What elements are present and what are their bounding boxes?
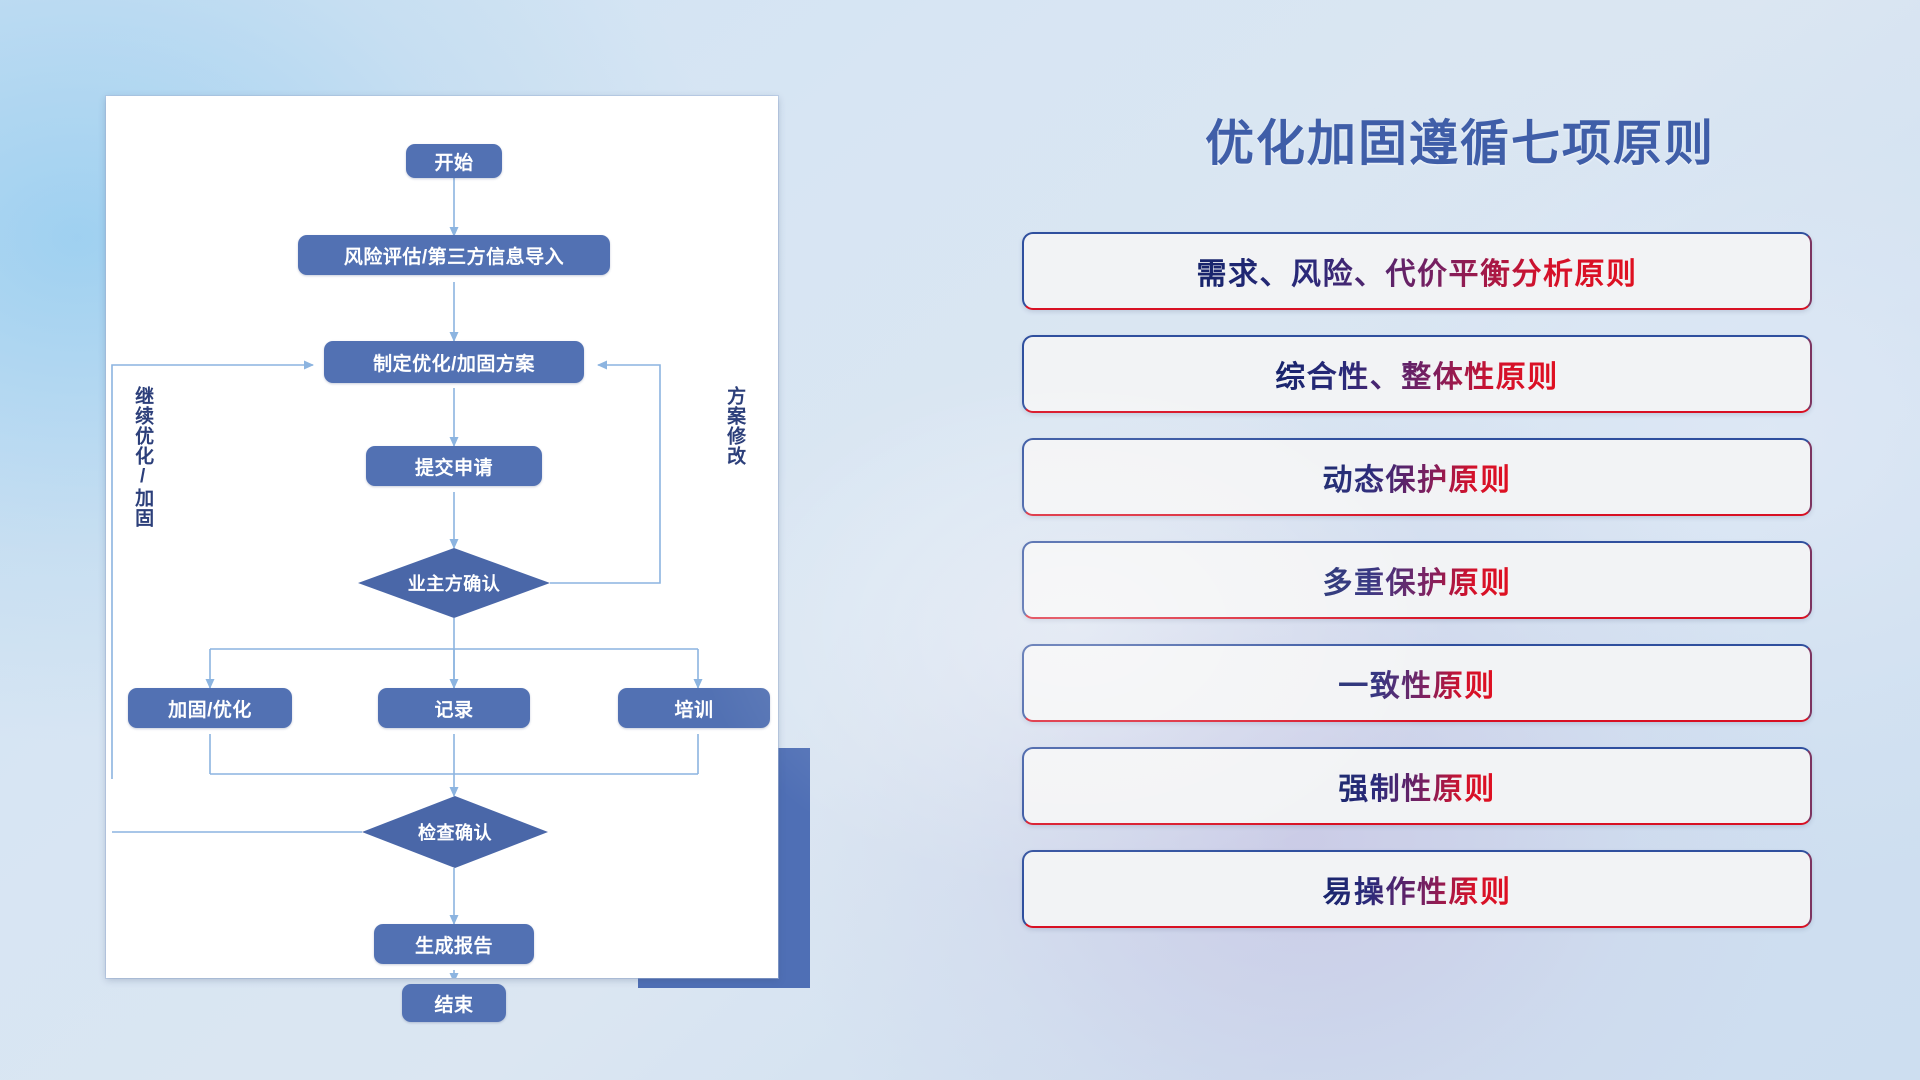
principle-card-7-label: 易操作性原则: [1323, 867, 1512, 911]
flowchart-card: 开始 风险评估/第三方信息导入 制定优化/加固方案 提交申请 业主方确认 加固/…: [106, 96, 778, 978]
flow-node-end-label: 结束: [434, 990, 473, 1017]
flow-node-risk-assessment[interactable]: 风险评估/第三方信息导入: [298, 235, 610, 275]
principle-card-5[interactable]: 一致性原则: [1022, 644, 1812, 722]
principle-card-3-label: 动态保护原则: [1323, 455, 1512, 499]
flow-decision-check-confirm-label: 检查确认: [418, 819, 492, 845]
principle-card-4[interactable]: 多重保护原则: [1022, 541, 1812, 619]
flow-node-record[interactable]: 记录: [378, 688, 530, 728]
flow-node-report[interactable]: 生成报告: [374, 924, 534, 964]
principle-card-4-label: 多重保护原则: [1323, 558, 1512, 602]
principle-card-5-label: 一致性原则: [1338, 661, 1496, 705]
flow-node-reinforce-label: 加固/优化: [168, 695, 252, 722]
flow-node-report-label: 生成报告: [415, 931, 493, 958]
flow-node-plan-label: 制定优化/加固方案: [373, 349, 535, 376]
principles-panel: 优化加固遵循七项原则 需求、风险、代价平衡分析原则 综合性、整体性原则 动态保护…: [1000, 0, 1920, 1080]
page-title: 优化加固遵循七项原则: [1000, 104, 1920, 175]
flow-node-plan[interactable]: 制定优化/加固方案: [324, 341, 584, 383]
flow-node-reinforce[interactable]: 加固/优化: [128, 688, 292, 728]
principle-card-7[interactable]: 易操作性原则: [1022, 850, 1812, 928]
flow-node-training[interactable]: 培训: [618, 688, 770, 728]
principle-card-1-label: 需求、风险、代价平衡分析原则: [1197, 249, 1638, 293]
flow-node-start[interactable]: 开始: [406, 144, 502, 178]
flow-node-record-label: 记录: [434, 695, 473, 722]
flow-node-submit[interactable]: 提交申请: [366, 446, 542, 486]
flow-node-submit-label: 提交申请: [415, 453, 493, 480]
principle-card-2[interactable]: 综合性、整体性原则: [1022, 335, 1812, 413]
flow-edge-label-left-loop: 继续优化/加固: [132, 386, 152, 528]
flow-node-training-label: 培训: [674, 695, 713, 722]
principles-list: 需求、风险、代价平衡分析原则 综合性、整体性原则 动态保护原则 多重保护原则 一…: [1022, 232, 1812, 953]
slide-root: 开始 风险评估/第三方信息导入 制定优化/加固方案 提交申请 业主方确认 加固/…: [0, 0, 1920, 1080]
flow-edge-label-right-loop: 方案修改: [724, 386, 744, 466]
flow-decision-owner-confirm-label: 业主方确认: [408, 570, 501, 596]
flow-node-end[interactable]: 结束: [402, 984, 506, 1022]
principle-card-1[interactable]: 需求、风险、代价平衡分析原则: [1022, 232, 1812, 310]
flow-node-risk-assessment-label: 风险评估/第三方信息导入: [344, 242, 564, 269]
flow-decision-owner-confirm[interactable]: 业主方确认: [358, 548, 550, 618]
principle-card-6[interactable]: 强制性原则: [1022, 747, 1812, 825]
principle-card-6-label: 强制性原则: [1338, 764, 1496, 808]
flowchart-panel: 开始 风险评估/第三方信息导入 制定优化/加固方案 提交申请 业主方确认 加固/…: [0, 0, 900, 1080]
flow-decision-check-confirm[interactable]: 检查确认: [362, 796, 548, 868]
principle-card-2-label: 综合性、整体性原则: [1275, 352, 1559, 396]
flow-node-start-label: 开始: [434, 148, 473, 175]
principle-card-3[interactable]: 动态保护原则: [1022, 438, 1812, 516]
